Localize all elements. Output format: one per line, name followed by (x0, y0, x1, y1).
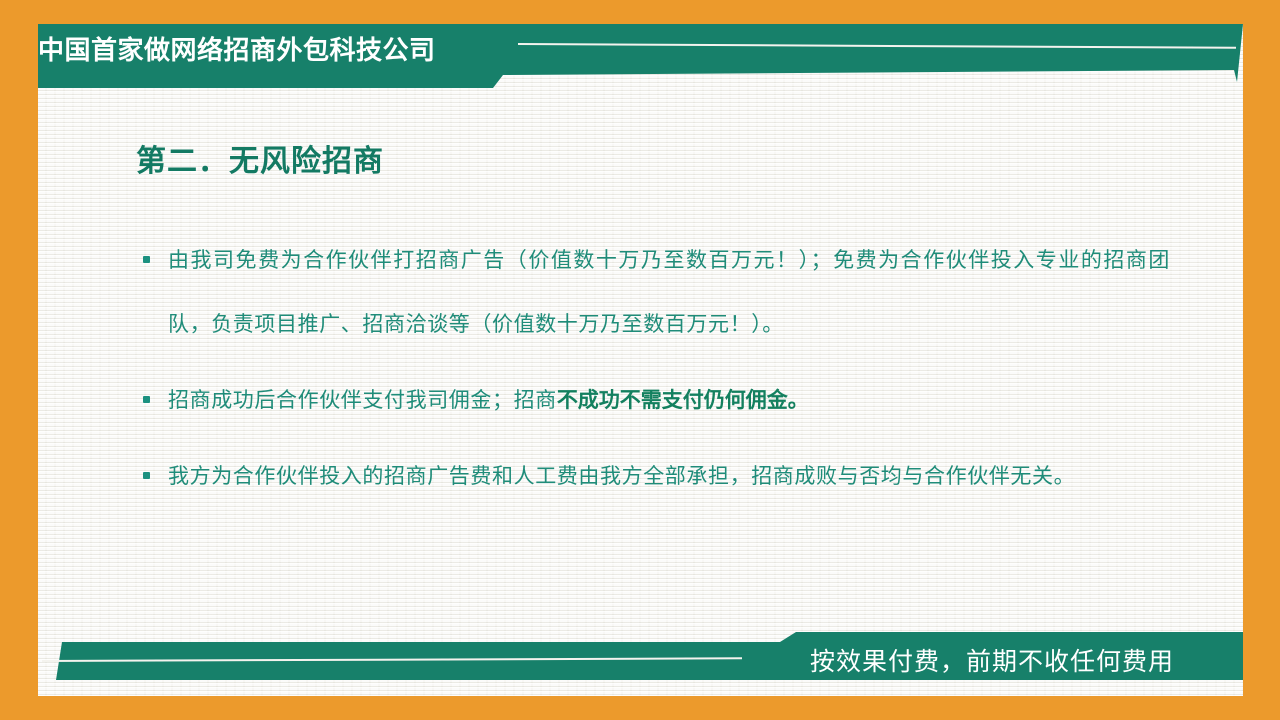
list-item-text: 招商成功后合作伙伴支付我司佣金；招商 (168, 388, 557, 412)
list-item: 招商成功后合作伙伴支付我司佣金；招商不成功不需支付仍何佣金。 (140, 368, 1170, 432)
bullet-list: 由我司免费为合作伙伴打招商广告（价值数十万乃至数百万元！）；免费为合作伙伴投入专… (140, 228, 1170, 520)
slide-canvas: 中国首家做网络招商外包科技公司 第二．无风险招商 由我司免费为合作伙伴打招商广告… (0, 0, 1280, 720)
footer-tagline: 按效果付费，前期不收任何费用 (810, 646, 1174, 678)
bullet-dot-icon (143, 256, 150, 263)
list-item-text: 由我司免费为合作伙伴打招商广告（价值数十万乃至数百万元！）；免费为合作伙伴投入专… (168, 248, 1170, 336)
bullet-dot-icon (143, 472, 150, 479)
bullet-dot-icon (143, 396, 150, 403)
list-item: 由我司免费为合作伙伴打招商广告（价值数十万乃至数百万元！）；免费为合作伙伴投入专… (140, 228, 1170, 356)
list-item-emphasis: 不成功不需支付仍何佣金。 (557, 388, 809, 412)
header-title: 中国首家做网络招商外包科技公司 (38, 36, 478, 66)
list-item-text: 我方为合作伙伴投入的招商广告费和人工费由我方全部承担，招商成败与否均与合作伙伴无… (168, 464, 1075, 488)
list-item: 我方为合作伙伴投入的招商广告费和人工费由我方全部承担，招商成败与否均与合作伙伴无… (140, 444, 1170, 508)
page-title: 第二．无风险招商 (136, 136, 384, 180)
